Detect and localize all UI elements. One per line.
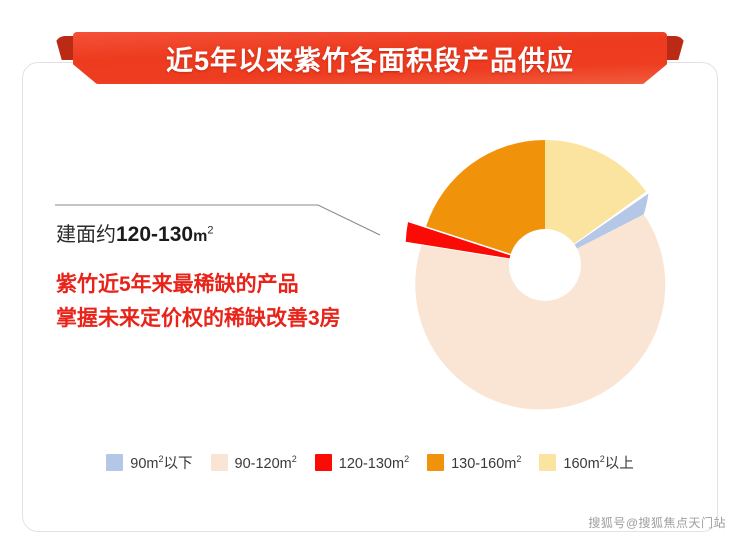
watermark: 搜狐号@搜狐焦点天门站 [588,514,726,531]
donut-hole [509,229,581,301]
legend-label-under-90: 90m2以下 [130,452,192,473]
legend-label-120-130: 120-130m2 [339,454,409,472]
legend-label-90-120: 90-120m2 [235,454,297,472]
donut-chart [400,120,700,420]
legend-label-160-plus: 160m2以上 [563,452,633,473]
callout-area-unit-sup: 2 [207,224,213,236]
legend-text: 120-130m [339,455,404,471]
infographic-root: 近5年以来紫竹各面积段产品供应 建面约120-130m2 紫竹近5年来最稀缺的产… [0,0,740,537]
callout-area-line: 建面约120-130m2 [56,222,436,248]
legend-text-suffix: 以上 [605,456,634,472]
legend-item-under-90: 90m2以下 [106,452,192,473]
callout-highlight-line2: 掌握未来定价权的稀缺改善3房 [56,302,436,336]
legend-text-suffix: 以下 [164,456,193,472]
legend-text: 90m [130,456,158,472]
legend-label-130-160: 130-160m2 [451,454,521,472]
legend-text: 160m [563,456,599,472]
callout-highlight-line1: 紫竹近5年来最稀缺的产品 [56,268,436,302]
legend-sup: 2 [292,454,297,464]
title-ribbon: 近5年以来紫竹各面积段产品供应 [55,18,685,80]
legend-sup: 2 [516,454,521,464]
callout-area-unit: m [193,228,207,245]
legend-sup: 2 [404,454,409,464]
legend-item-130-160: 130-160m2 [427,454,521,472]
legend-text: 90-120m [235,455,292,471]
legend-item-160-plus: 160m2以上 [539,452,633,473]
callout-area-value: 120-130 [116,223,193,246]
callout-highlight: 紫竹近5年来最稀缺的产品 掌握未来定价权的稀缺改善3房 [56,268,436,335]
legend-text: 130-160m [451,455,516,471]
legend-swatch-under-90 [106,454,123,471]
legend-swatch-120-130 [315,454,332,471]
chart-legend: 90m2以下 90-120m2 120-130m2 130-160m2 160m [0,452,740,473]
callout-block: 建面约120-130m2 紫竹近5年来最稀缺的产品 掌握未来定价权的稀缺改善3房 [56,222,436,335]
legend-swatch-130-160 [427,454,444,471]
callout-area-prefix: 建面约 [56,224,116,246]
legend-item-120-130: 120-130m2 [315,454,409,472]
legend-item-90-120: 90-120m2 [211,454,297,472]
legend-swatch-90-120 [211,454,228,471]
legend-swatch-160-plus [539,454,556,471]
page-title: 近5年以来紫竹各面积段产品供应 [73,32,667,84]
